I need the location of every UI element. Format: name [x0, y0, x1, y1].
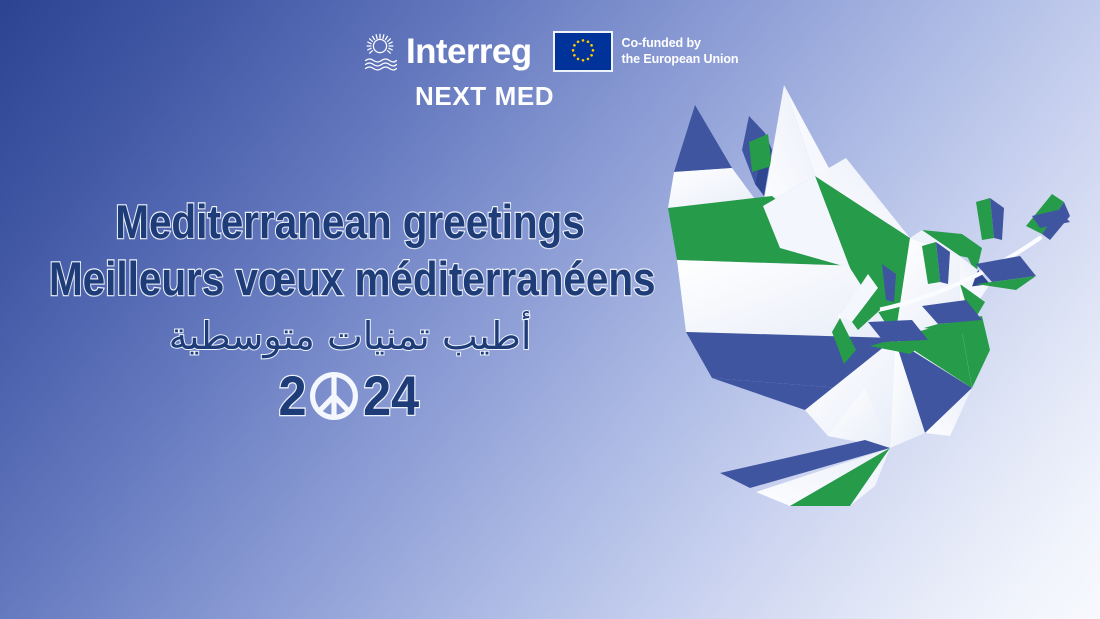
greeting-card: Interreg: [0, 0, 1100, 619]
year-digit-last: 24: [364, 368, 420, 424]
dove-body: [668, 85, 990, 506]
interreg-wordmark: Interreg: [406, 34, 532, 69]
eu-flag-icon: [553, 31, 613, 72]
peace-symbol-icon: [307, 369, 361, 423]
low-poly-dove-with-olive-branch-illustration: [660, 88, 1100, 508]
programme-name: NEXT MED: [415, 81, 554, 112]
eu-funding-text: Co-funded by the European Union: [622, 35, 739, 68]
logo-row: Interreg: [363, 30, 738, 72]
greeting-arabic: أطيب تمنيات متوسطية: [0, 314, 700, 358]
interreg-sun-wave-icon: [363, 30, 397, 72]
branding-block: Interreg: [363, 30, 738, 112]
eu-emblem-block: Co-funded by the European Union: [553, 31, 739, 72]
year-2024: 2 24: [0, 368, 700, 424]
greeting-english: Mediterranean greetings: [49, 196, 651, 249]
year-digit-first: 2: [279, 368, 307, 424]
greetings-block: Mediterranean greetings Meilleurs vœux m…: [0, 196, 700, 424]
greeting-french: Meilleurs vœux méditerranéens: [49, 253, 651, 306]
